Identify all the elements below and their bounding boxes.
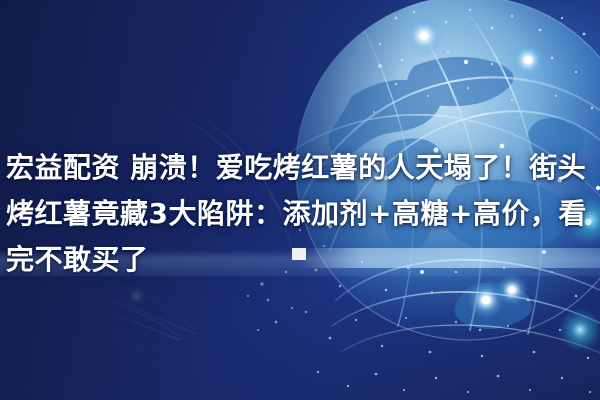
headline-text: 宏益配资 崩溃！爱吃烤红薯的人天塌了！街头烤红薯竟藏3大陷阱：添加剂+高糖+高价… — [0, 145, 600, 283]
promo-banner: 宏益配资 崩溃！爱吃烤红薯的人天塌了！街头烤红薯竟藏3大陷阱：添加剂+高糖+高价… — [0, 0, 600, 400]
headline-separator — [120, 151, 130, 184]
site-name: 宏益配资 — [6, 151, 120, 184]
headline-line-2: 薯竟藏3大陷阱：添加剂+高糖+高价，看完不敢买了 — [6, 197, 587, 276]
